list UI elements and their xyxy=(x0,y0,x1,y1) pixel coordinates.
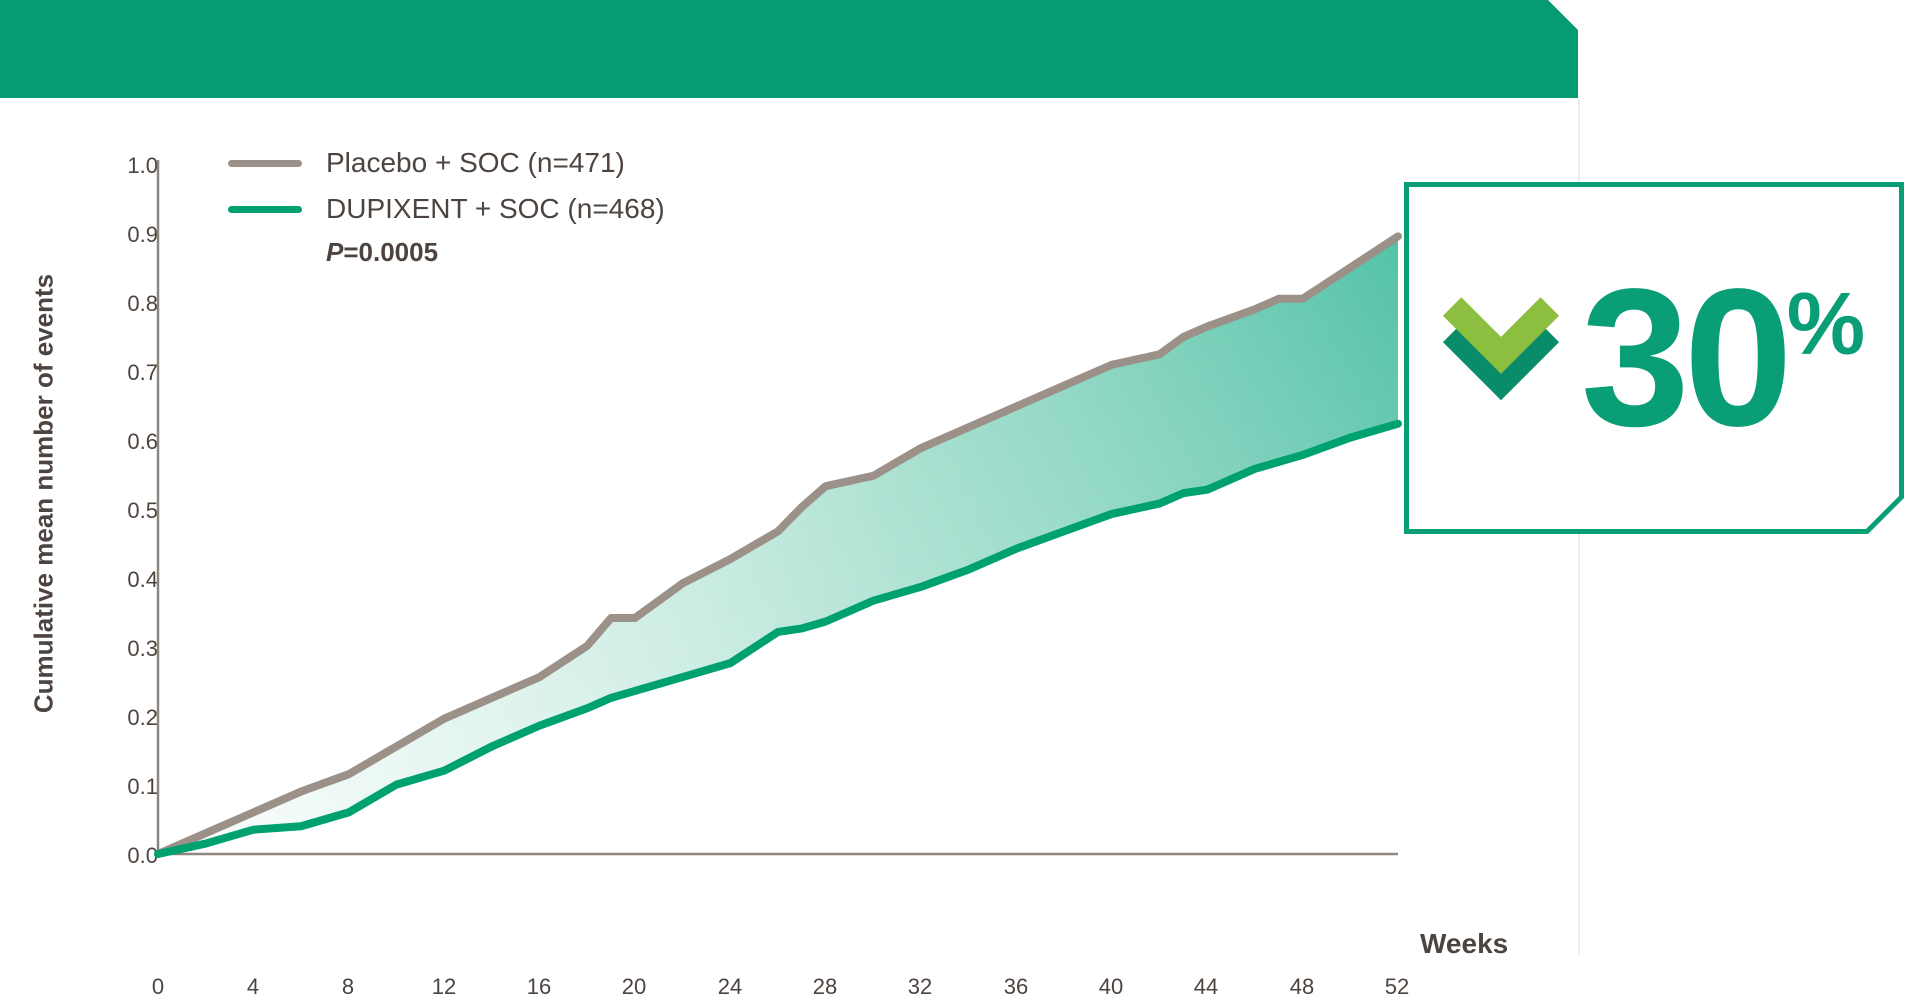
x-tick-label: 48 xyxy=(1272,974,1332,1000)
legend-label-dupixent: DUPIXENT + SOC (n=468) xyxy=(326,193,665,225)
callout-value: 30% xyxy=(1581,278,1863,439)
x-tick-label: 20 xyxy=(604,974,664,1000)
chart-card: Cumulative mean number of events 1.0 0.9… xyxy=(0,98,1580,954)
x-tick-label: 8 xyxy=(318,974,378,1000)
line-swatch-placebo-icon xyxy=(228,160,302,167)
x-tick-label: 44 xyxy=(1176,974,1236,1000)
callout-percent-sign: % xyxy=(1787,280,1863,368)
reduction-callout: 30% xyxy=(1404,182,1904,534)
x-axis-title: Weeks xyxy=(1420,928,1508,960)
x-tick-label: 4 xyxy=(223,974,283,1000)
callout-content: 30% xyxy=(1404,182,1904,534)
x-tick-label: 16 xyxy=(509,974,569,1000)
x-tick-label: 40 xyxy=(1081,974,1141,1000)
x-tick-label: 36 xyxy=(986,974,1046,1000)
double-chevron-down-icon xyxy=(1435,292,1567,424)
x-tick-label: 0 xyxy=(128,974,188,1000)
legend-label-placebo: Placebo + SOC (n=471) xyxy=(326,147,625,179)
p-value-symbol: P xyxy=(326,237,343,267)
x-tick-label: 52 xyxy=(1367,974,1427,1000)
x-tick-label: 28 xyxy=(795,974,855,1000)
x-tick-label: 32 xyxy=(890,974,950,1000)
legend-item-dupixent: DUPIXENT + SOC (n=468) xyxy=(228,186,665,232)
x-tick-label: 12 xyxy=(414,974,474,1000)
callout-number: 30 xyxy=(1581,278,1787,439)
chart-legend: Placebo + SOC (n=471) DUPIXENT + SOC (n=… xyxy=(228,140,665,272)
slide-canvas: Reduction in moderate or severe exacerba… xyxy=(0,0,1920,954)
line-swatch-dupixent-icon xyxy=(228,206,302,213)
title-banner xyxy=(0,0,1578,98)
x-tick-label: 24 xyxy=(700,974,760,1000)
p-value-number: =0.0005 xyxy=(343,237,438,267)
legend-item-placebo: Placebo + SOC (n=471) xyxy=(228,140,665,186)
p-value-text: P=0.0005 xyxy=(326,237,438,268)
legend-pvalue-row: P=0.0005 xyxy=(228,232,665,272)
